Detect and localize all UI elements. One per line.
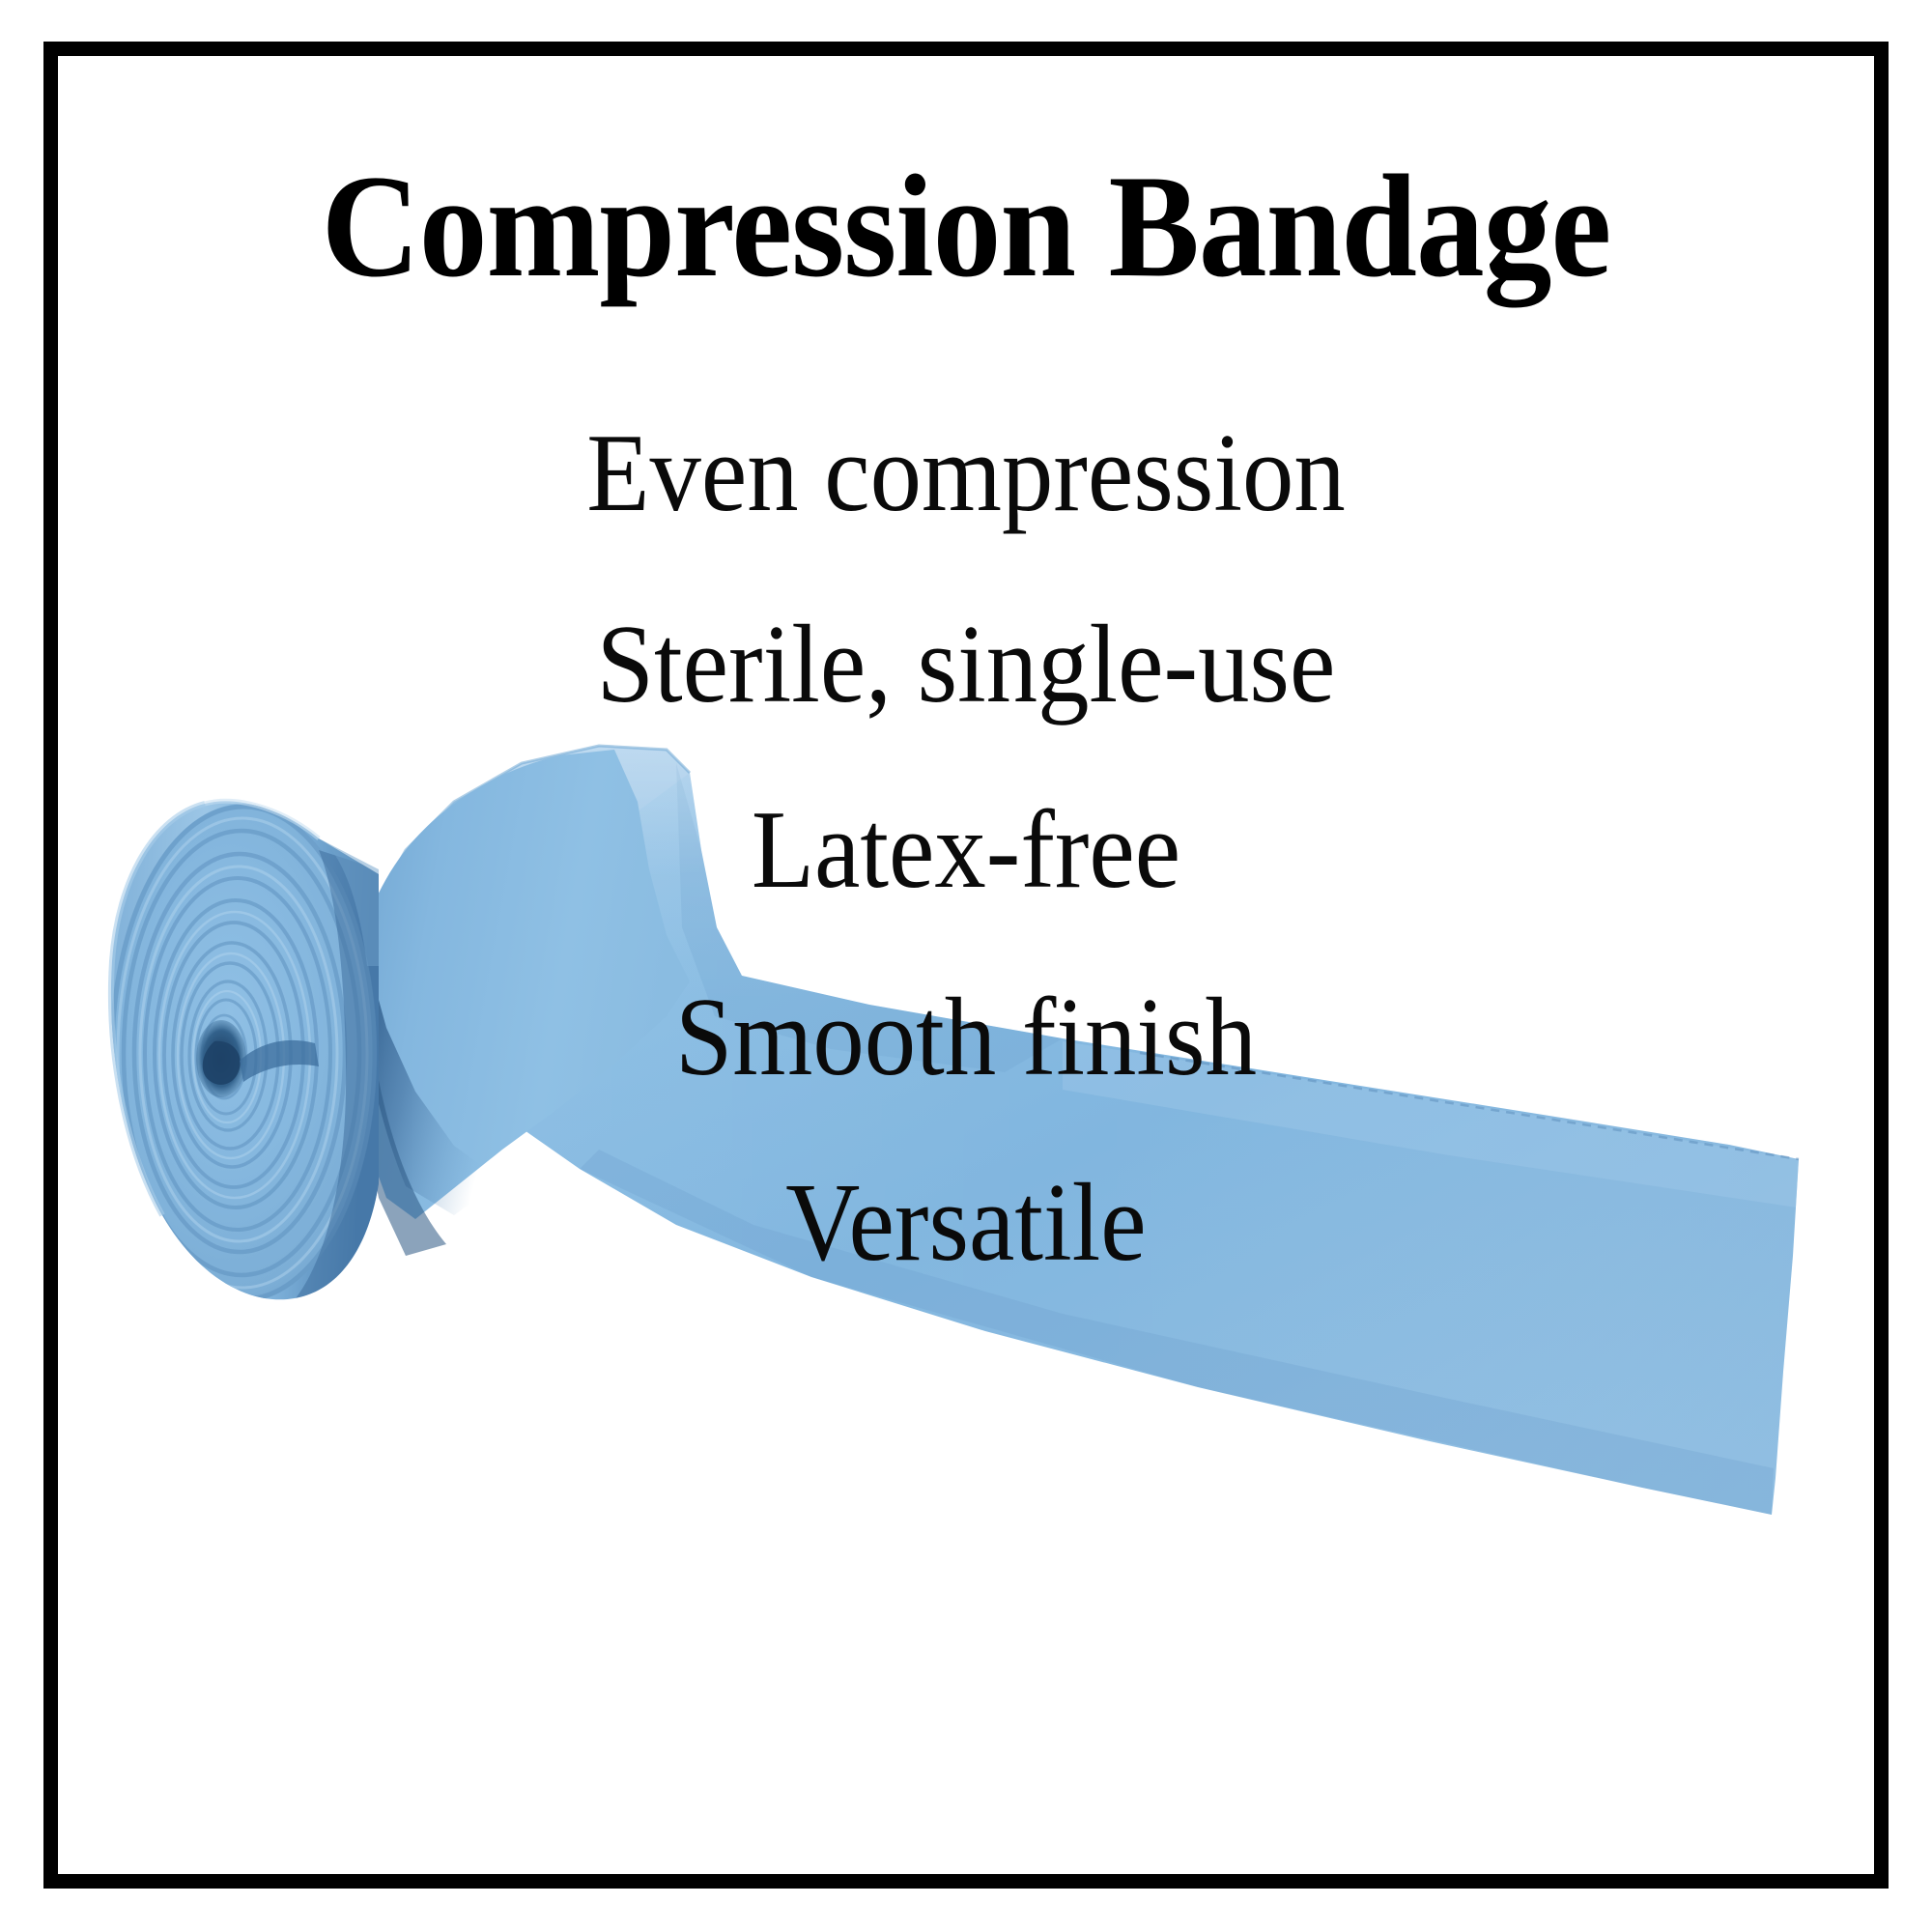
poster-text-layer: Compression Bandage Even compression Ste… — [0, 0, 1932, 1932]
feature-item-1: Sterile, single-use — [77, 609, 1855, 721]
page-title: Compression Bandage — [68, 153, 1864, 299]
feature-item-0: Even compression — [77, 417, 1855, 529]
feature-item-4: Versatile — [77, 1167, 1855, 1279]
feature-item-2: Latex-free — [77, 794, 1855, 906]
feature-item-3: Smooth finish — [77, 981, 1855, 1094]
poster-canvas: Compression Bandage Even compression Ste… — [0, 0, 1932, 1932]
